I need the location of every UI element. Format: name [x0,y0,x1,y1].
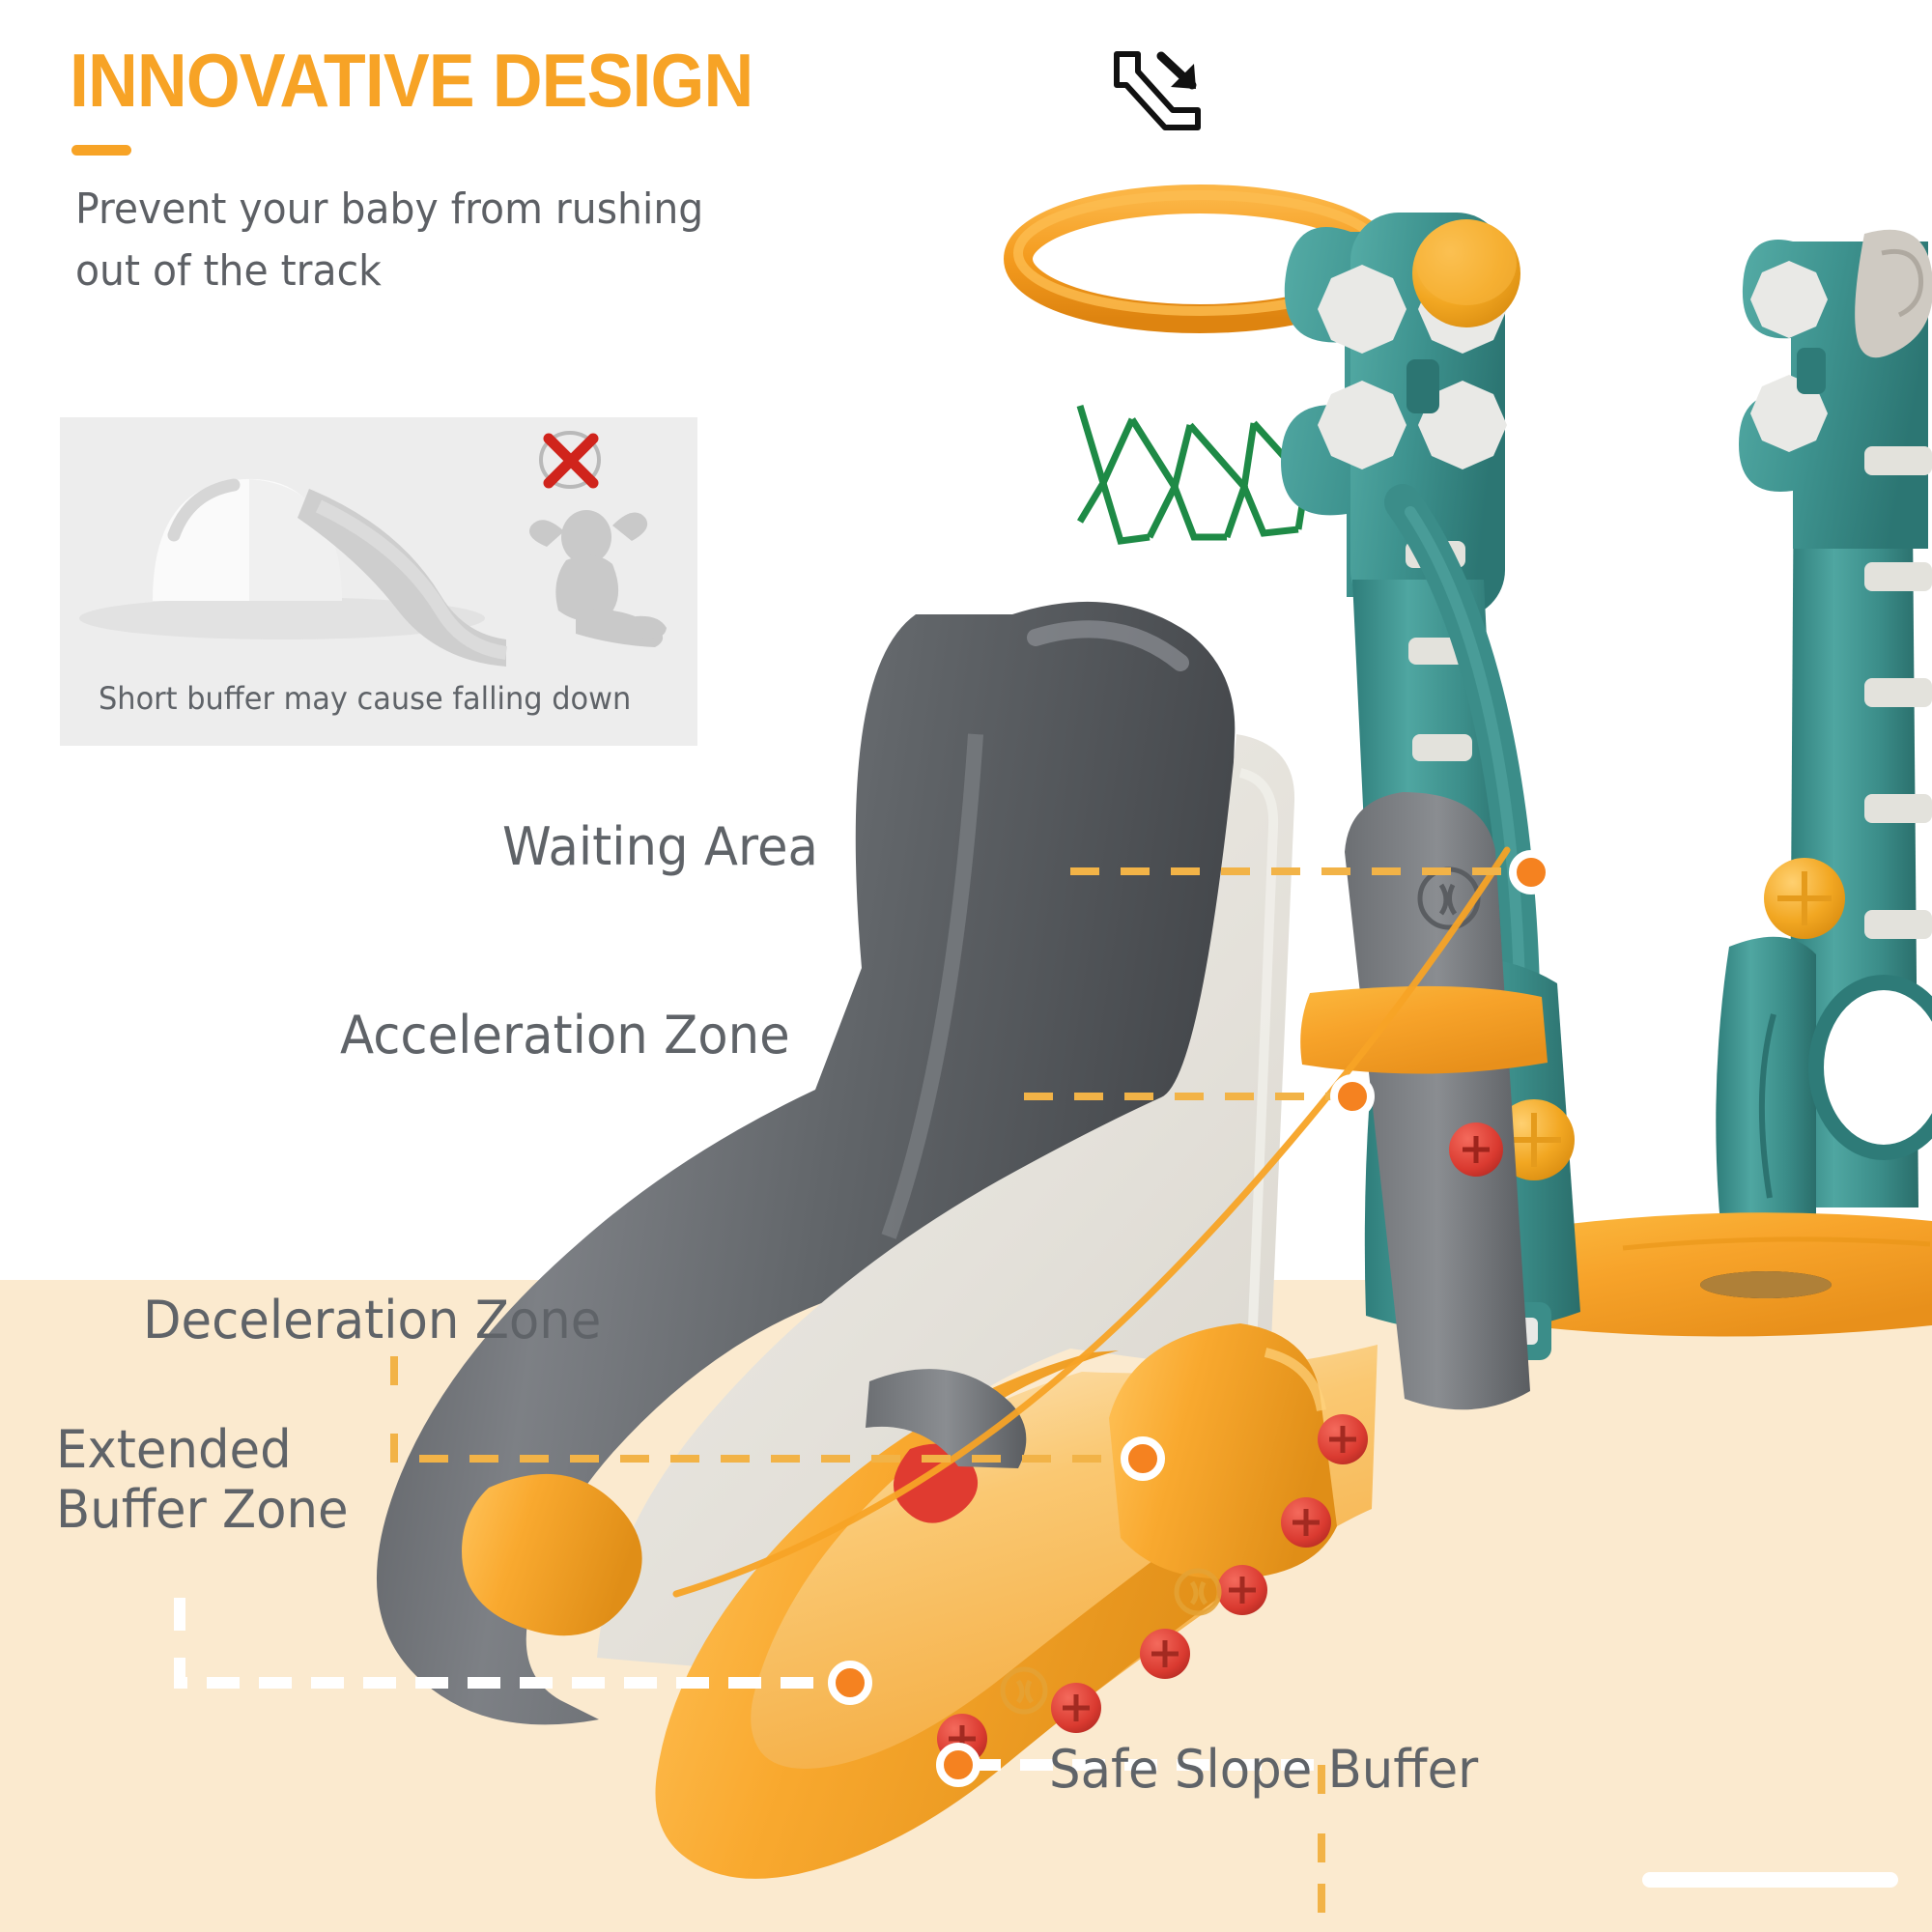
callout-label-acceleration-zone: Acceleration Zone [340,1005,790,1065]
callout-label-deceleration-zone: Deceleration Zone [143,1290,601,1350]
callout-label-extended-buffer-zone-line2: Buffer Zone [56,1480,349,1540]
callout-label-extended-buffer-zone: Extended Buffer Zone [56,1420,349,1540]
infographic-root: INNOVATIVE DESIGN Prevent your baby from… [0,0,1932,1932]
callout-connectors [0,0,1932,1932]
bottom-divider-bar [1642,1872,1898,1888]
connector-extended-buffer-zone [180,1598,833,1683]
callout-label-extended-buffer-zone-line1: Extended [56,1420,349,1480]
callout-label-waiting-area: Waiting Area [502,816,818,877]
connector-deceleration-zone [394,1356,1128,1459]
callout-label-safe-slope-buffer: Safe Slope Buffer [1049,1739,1478,1800]
